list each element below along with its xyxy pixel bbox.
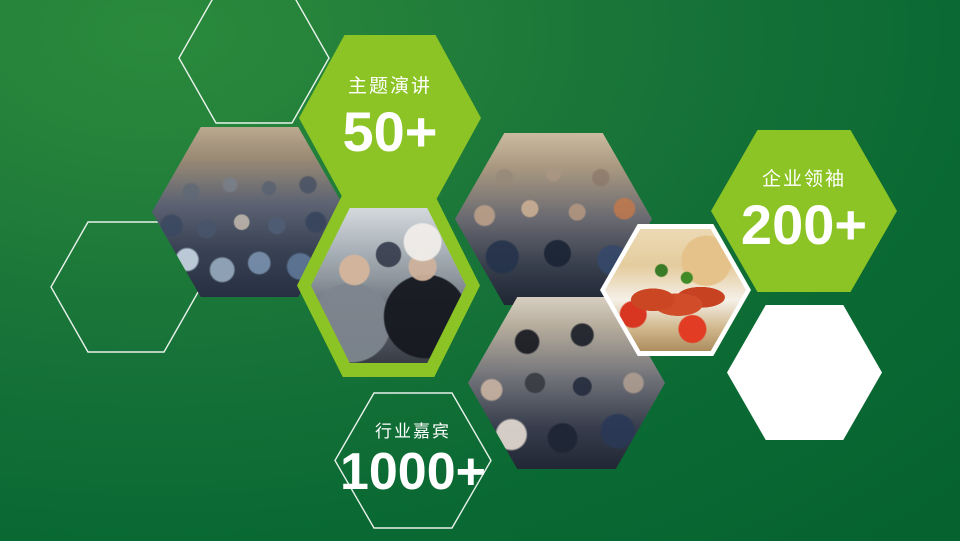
stat-hex-guests-shape xyxy=(334,392,492,529)
stat-hex-leaders-shape xyxy=(711,130,897,292)
poster-canvas: 主题演讲 50+ 企业领袖 200+ 行业嘉宾 1000+ xyxy=(0,0,960,541)
stat-hex-keynote-shape xyxy=(299,35,481,201)
stat-hex-keynote-speeches[interactable]: 主题演讲 50+ xyxy=(299,35,481,201)
stat-hex-industry-guests[interactable]: 行业嘉宾 1000+ xyxy=(334,392,492,529)
stat-hex-enterprise-leaders[interactable]: 企业领袖 200+ xyxy=(711,130,897,292)
